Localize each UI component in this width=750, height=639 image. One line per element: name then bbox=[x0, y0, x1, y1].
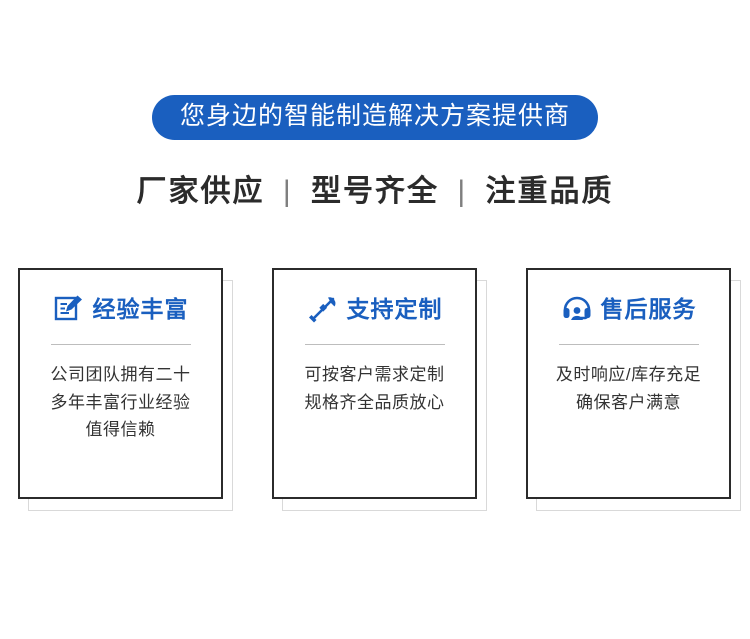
sub-headline-separator-2: | bbox=[449, 175, 475, 208]
promo-page: 您身边的智能制造解决方案提供商 厂家供应 | 型号齐全 | 注重品质 bbox=[0, 0, 750, 639]
sub-headline-separator-1: | bbox=[275, 175, 301, 208]
card-body-2: 可按客户需求定制 规格齐全品质放心 bbox=[285, 361, 465, 416]
card-body-3-line-1: 及时响应/库存充足 bbox=[539, 361, 719, 389]
card-body-1: 公司团队拥有二十 多年丰富行业经验 值得信赖 bbox=[31, 361, 211, 444]
feature-card-slot-3: 售后服务 及时响应/库存充足 确保客户满意 bbox=[526, 268, 731, 499]
sub-headline-part-2: 型号齐全 bbox=[311, 175, 439, 208]
card-body-3: 及时响应/库存充足 确保客户满意 bbox=[539, 361, 719, 416]
feature-card-slot-2: 支持定制 可按客户需求定制 规格齐全品质放心 bbox=[272, 268, 477, 499]
sub-headline-part-3: 注重品质 bbox=[485, 175, 613, 208]
card-header-1: 经验丰富 bbox=[53, 292, 189, 326]
sub-headline-part-1: 厂家供应 bbox=[137, 175, 265, 208]
feature-card-experience: 经验丰富 公司团队拥有二十 多年丰富行业经验 值得信赖 bbox=[18, 268, 223, 499]
card-divider-1 bbox=[51, 344, 191, 345]
card-title-1: 经验丰富 bbox=[93, 298, 189, 321]
wrench-screwdriver-icon bbox=[307, 293, 339, 325]
card-body-3-line-2: 确保客户满意 bbox=[539, 389, 719, 417]
card-header-3: 售后服务 bbox=[561, 292, 697, 326]
card-body-1-line-2: 多年丰富行业经验 bbox=[31, 389, 211, 417]
card-body-2-line-1: 可按客户需求定制 bbox=[285, 361, 465, 389]
card-divider-3 bbox=[559, 344, 699, 345]
card-header-2: 支持定制 bbox=[307, 292, 443, 326]
feature-card-slot-1: 经验丰富 公司团队拥有二十 多年丰富行业经验 值得信赖 bbox=[18, 268, 223, 499]
headset-support-icon bbox=[561, 293, 593, 325]
sub-headline: 厂家供应 | 型号齐全 | 注重品质 bbox=[0, 166, 750, 210]
card-body-1-line-3: 值得信赖 bbox=[31, 416, 211, 444]
card-title-3: 售后服务 bbox=[601, 298, 697, 321]
feature-card-customization: 支持定制 可按客户需求定制 规格齐全品质放心 bbox=[272, 268, 477, 499]
card-title-2: 支持定制 bbox=[347, 298, 443, 321]
card-body-2-line-2: 规格齐全品质放心 bbox=[285, 389, 465, 417]
card-body-1-line-1: 公司团队拥有二十 bbox=[31, 361, 211, 389]
pen-document-icon bbox=[53, 293, 85, 325]
card-divider-2 bbox=[305, 344, 445, 345]
headline-pill-wrapper: 您身边的智能制造解决方案提供商 bbox=[0, 95, 750, 140]
feature-card-after-sales: 售后服务 及时响应/库存充足 确保客户满意 bbox=[526, 268, 731, 499]
feature-card-list: 经验丰富 公司团队拥有二十 多年丰富行业经验 值得信赖 bbox=[0, 268, 750, 528]
headline-pill: 您身边的智能制造解决方案提供商 bbox=[152, 95, 598, 140]
